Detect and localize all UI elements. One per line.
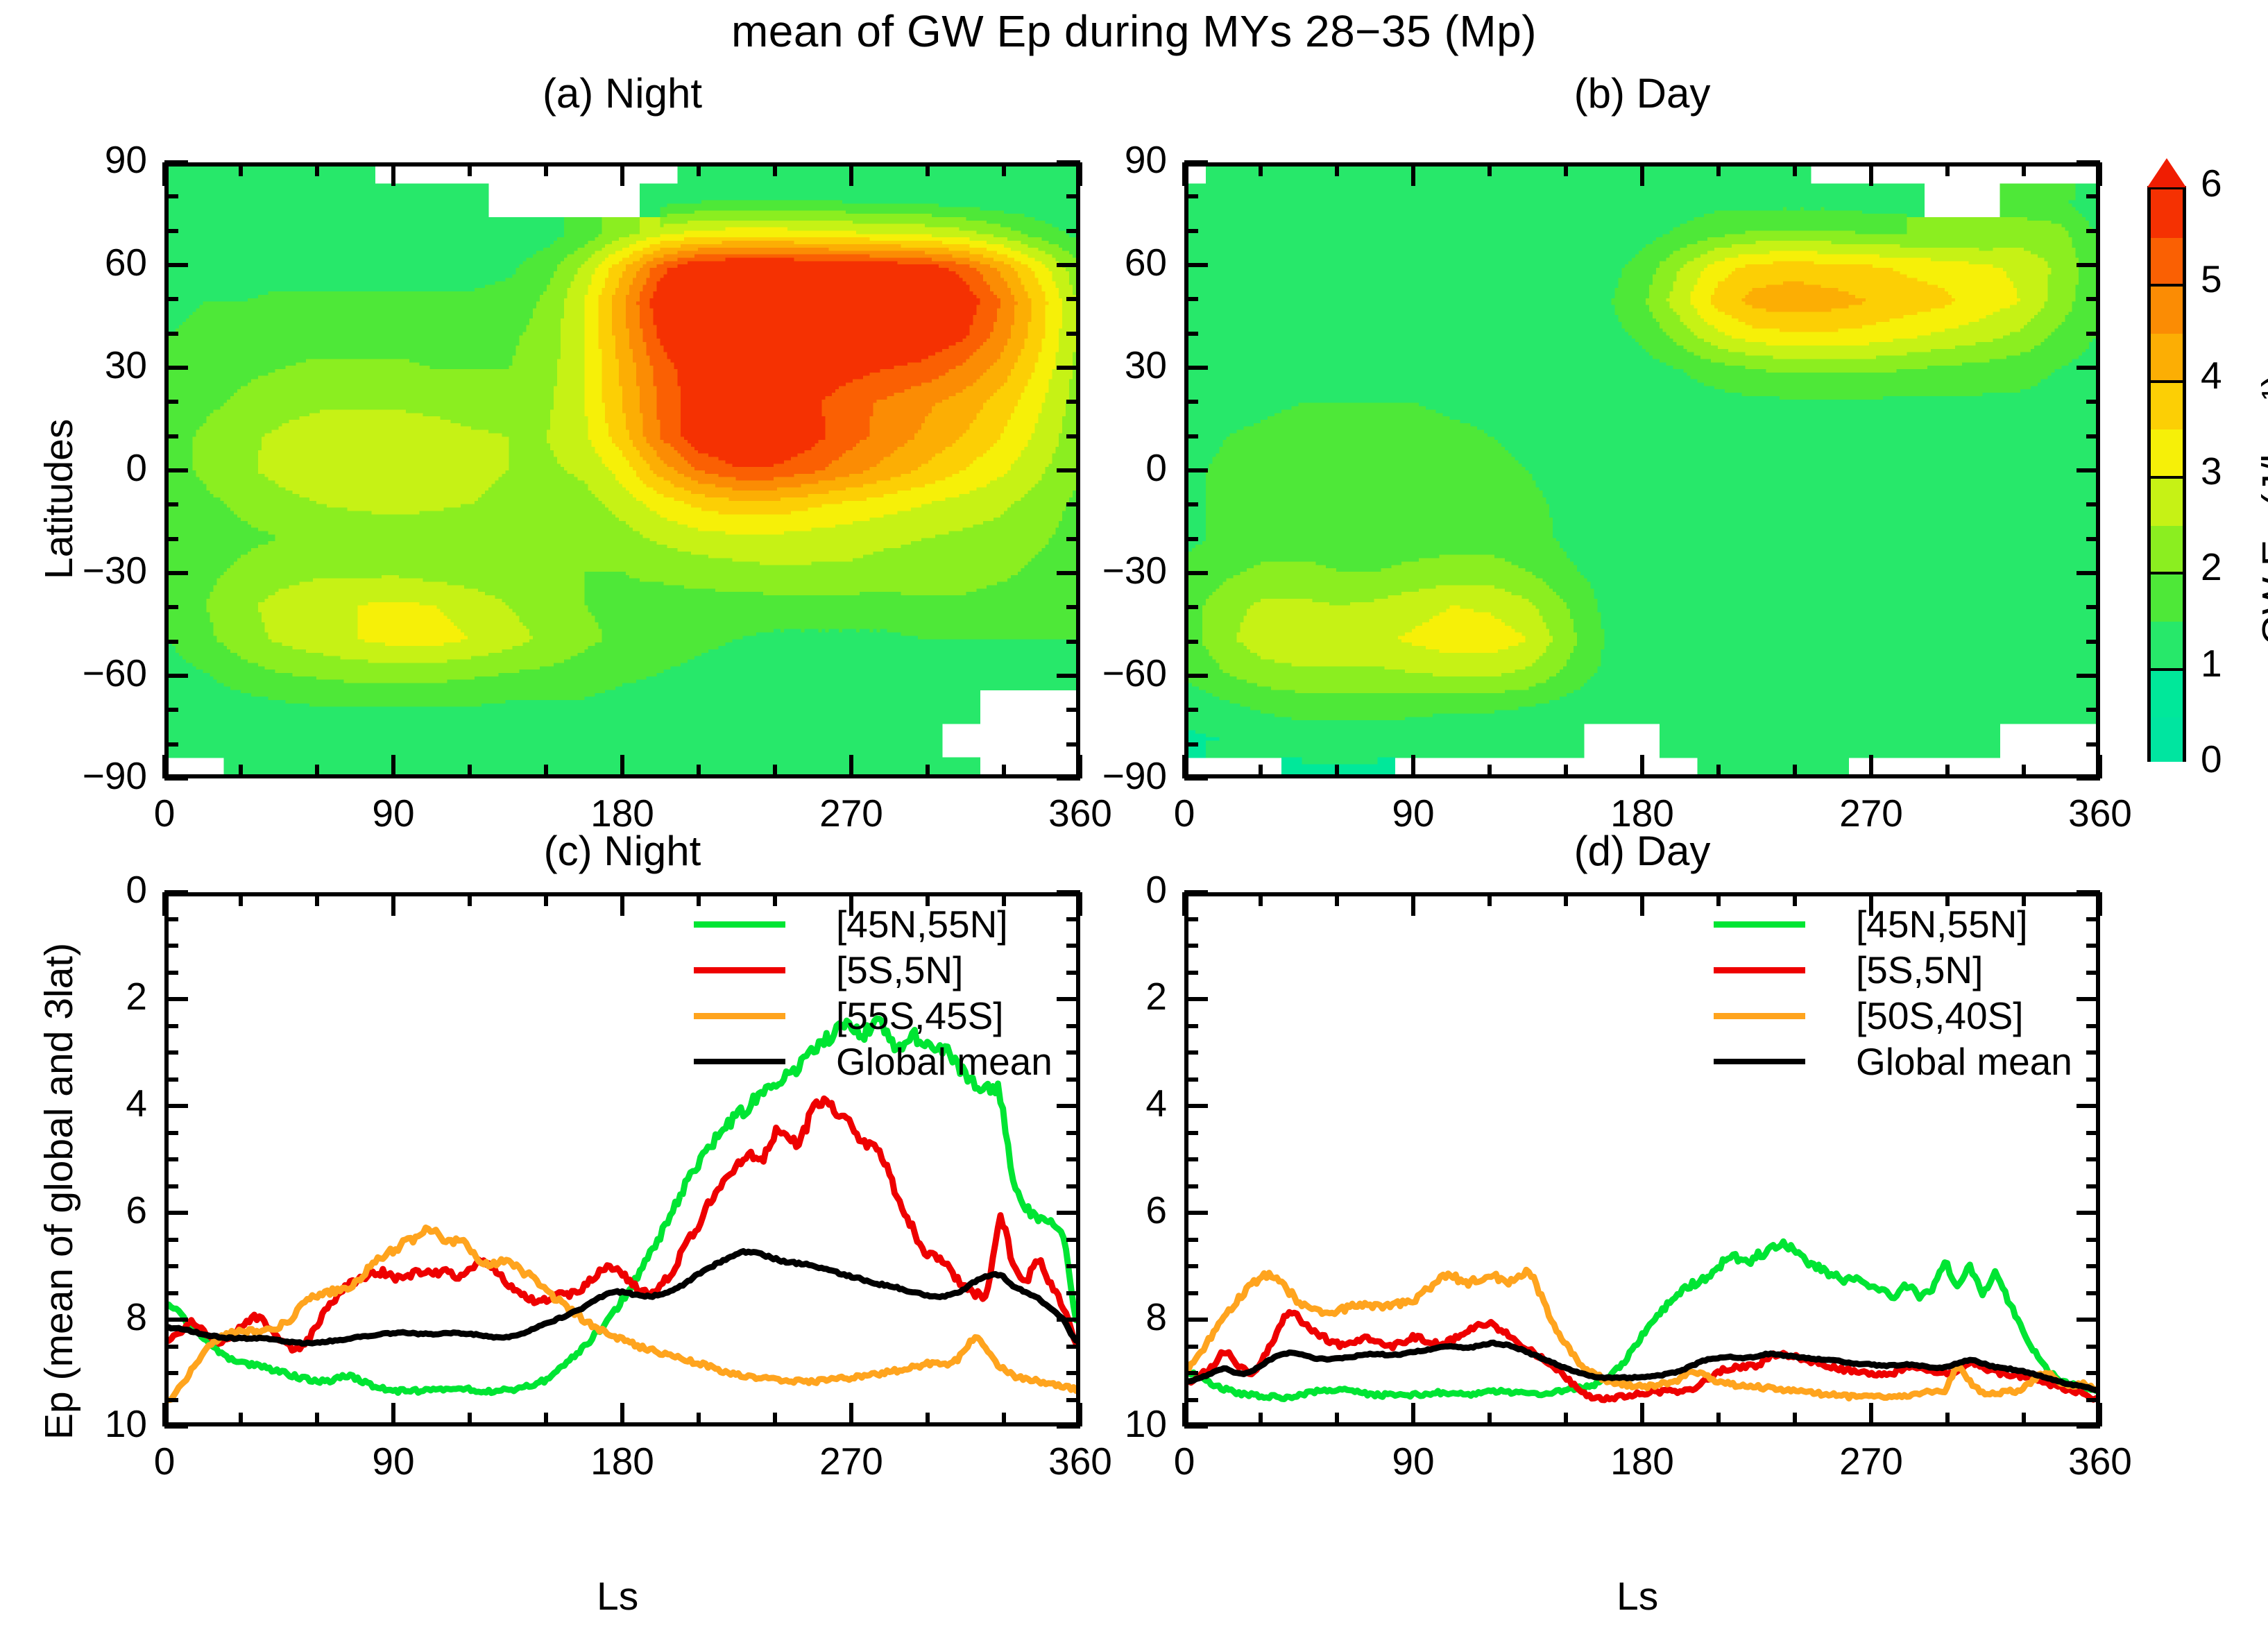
panel-c-title: (c) Night bbox=[164, 827, 1080, 875]
y-tick-label: 0 bbox=[1011, 445, 1167, 490]
y-tick bbox=[1184, 1024, 1198, 1028]
y-tick bbox=[1184, 640, 1198, 644]
y-tick-right bbox=[2077, 1318, 2100, 1322]
legend-label: [55S,45S] bbox=[836, 994, 1004, 1038]
x-tick-top bbox=[468, 892, 472, 906]
x-tick bbox=[1335, 765, 1339, 778]
x-tick bbox=[849, 1403, 853, 1426]
y-tick-right bbox=[1066, 605, 1080, 609]
y-tick-right bbox=[2077, 468, 2100, 472]
panel-c-xlabel: Ls bbox=[597, 1574, 638, 1619]
y-tick-label: 30 bbox=[0, 343, 147, 387]
y-tick bbox=[1184, 1398, 1198, 1402]
y-tick bbox=[1184, 1345, 1198, 1349]
x-tick-top bbox=[1564, 892, 1568, 906]
y-tick bbox=[164, 917, 178, 921]
colorbar-tick-label: 0 bbox=[2201, 737, 2222, 781]
x-tick-top bbox=[391, 892, 395, 916]
panel-d-title: (d) Day bbox=[1184, 827, 2100, 875]
y-tick bbox=[164, 1238, 178, 1242]
x-tick-label: 180 bbox=[1559, 1439, 1725, 1483]
y-tick bbox=[164, 890, 188, 894]
x-tick-top bbox=[1182, 162, 1186, 186]
x-tick bbox=[1182, 1403, 1186, 1426]
y-tick bbox=[1184, 1238, 1198, 1242]
y-tick-label: 0 bbox=[0, 867, 147, 912]
legend-swatch bbox=[694, 1059, 785, 1064]
x-tick-label: 180 bbox=[539, 1439, 706, 1483]
y-tick bbox=[164, 502, 178, 506]
y-tick bbox=[164, 1264, 178, 1268]
y-tick bbox=[1184, 917, 1198, 921]
x-tick bbox=[2098, 1403, 2102, 1426]
y-tick-right bbox=[2086, 1345, 2100, 1349]
x-tick-top bbox=[1640, 162, 1644, 186]
x-tick-top bbox=[2098, 162, 2102, 186]
y-tick bbox=[164, 1211, 188, 1215]
colorbar-band bbox=[2151, 334, 2183, 382]
x-tick-top bbox=[926, 162, 930, 176]
figure-title: mean of GW Ep during MYs 28−35 (Mp) bbox=[0, 6, 2268, 57]
legend-swatch bbox=[694, 921, 785, 928]
x-tick-top bbox=[162, 162, 167, 186]
y-tick-right bbox=[2086, 1398, 2100, 1402]
y-tick bbox=[164, 674, 188, 678]
x-tick bbox=[1716, 765, 1721, 778]
colorbar-tick-label: 2 bbox=[2201, 545, 2222, 589]
y-tick-right bbox=[1066, 1345, 1080, 1349]
y-tick-right bbox=[1066, 194, 1080, 198]
x-tick-top bbox=[1259, 162, 1263, 176]
x-tick-label: 270 bbox=[768, 1439, 935, 1483]
x-tick bbox=[1869, 1403, 1873, 1426]
y-tick bbox=[1184, 1131, 1198, 1135]
x-tick-top bbox=[1411, 892, 1415, 916]
y-tick bbox=[164, 468, 188, 472]
y-tick bbox=[1184, 1211, 1208, 1215]
legend-label: [45N,55N] bbox=[1856, 902, 2028, 946]
x-tick bbox=[1182, 755, 1186, 778]
y-tick bbox=[1184, 776, 1208, 781]
y-tick bbox=[1184, 944, 1198, 948]
legend-swatch bbox=[1714, 921, 1805, 928]
y-tick-right bbox=[1066, 297, 1080, 301]
y-tick-right bbox=[2086, 708, 2100, 712]
y-tick bbox=[164, 708, 178, 712]
colorbar-tick-label: 5 bbox=[2201, 257, 2222, 301]
y-tick-right bbox=[1066, 434, 1080, 438]
y-tick-right bbox=[2086, 434, 2100, 438]
y-tick bbox=[164, 1077, 178, 1082]
x-tick-top bbox=[1182, 892, 1186, 916]
y-tick bbox=[164, 776, 188, 781]
x-tick bbox=[697, 1413, 701, 1426]
x-tick bbox=[1411, 755, 1415, 778]
colorbar-band bbox=[2151, 670, 2183, 718]
legend-swatch bbox=[694, 1013, 785, 1019]
x-tick-label: 90 bbox=[1330, 1439, 1497, 1483]
y-tick bbox=[164, 1184, 178, 1188]
y-tick-right bbox=[2077, 366, 2100, 370]
panel-b-title: (b) Day bbox=[1184, 69, 2100, 117]
x-tick-top bbox=[162, 892, 167, 916]
y-tick bbox=[164, 1318, 188, 1322]
panel-a-plot bbox=[164, 162, 1080, 778]
legend-label: [50S,40S] bbox=[1856, 994, 2024, 1038]
y-tick-right bbox=[2086, 229, 2100, 233]
x-tick bbox=[162, 755, 167, 778]
panel-b-plot bbox=[1184, 162, 2100, 778]
x-tick bbox=[1487, 1413, 1492, 1426]
y-tick-right bbox=[2086, 605, 2100, 609]
y-tick bbox=[1184, 997, 1208, 1001]
y-tick-right bbox=[2086, 944, 2100, 948]
y-tick-right bbox=[2086, 1291, 2100, 1295]
x-tick-label: 360 bbox=[2017, 1439, 2183, 1483]
y-tick-right bbox=[2086, 502, 2100, 506]
y-tick-label: −60 bbox=[1011, 651, 1167, 695]
y-tick-right bbox=[2086, 742, 2100, 747]
colorbar-bottom-arrow bbox=[2147, 762, 2186, 791]
y-tick-label: 8 bbox=[1011, 1295, 1167, 1339]
y-tick-right bbox=[2086, 1050, 2100, 1055]
x-tick-label: 270 bbox=[1788, 1439, 1954, 1483]
y-tick-right bbox=[1066, 1238, 1080, 1242]
y-tick-right bbox=[2086, 194, 2100, 198]
x-tick-top bbox=[1002, 162, 1006, 176]
y-tick bbox=[1184, 297, 1198, 301]
x-tick-top bbox=[1487, 162, 1492, 176]
y-tick-right bbox=[2077, 263, 2100, 267]
x-tick-top bbox=[1411, 162, 1415, 186]
y-tick-right bbox=[1066, 502, 1080, 506]
x-tick-top bbox=[544, 162, 548, 176]
y-tick-right bbox=[1066, 229, 1080, 233]
y-tick bbox=[1184, 502, 1198, 506]
x-tick bbox=[1002, 1413, 1006, 1426]
y-tick-label: 6 bbox=[1011, 1188, 1167, 1232]
y-tick-right bbox=[1066, 1024, 1080, 1028]
y-tick-right bbox=[1066, 400, 1080, 404]
x-tick bbox=[620, 755, 624, 778]
x-tick bbox=[315, 1413, 319, 1426]
x-tick-top bbox=[1487, 892, 1492, 906]
x-tick bbox=[468, 765, 472, 778]
x-tick-top bbox=[697, 892, 701, 906]
y-tick-label: 4 bbox=[1011, 1081, 1167, 1125]
y-tick-right bbox=[2086, 917, 2100, 921]
x-tick-top bbox=[620, 162, 624, 186]
x-tick bbox=[1335, 1413, 1339, 1426]
y-tick-label: −30 bbox=[1011, 548, 1167, 593]
y-tick-right bbox=[2077, 160, 2100, 164]
y-tick-right bbox=[1066, 917, 1080, 921]
x-tick bbox=[1869, 755, 1873, 778]
colorbar-tick-label: 1 bbox=[2201, 641, 2222, 685]
y-tick-right bbox=[2086, 1371, 2100, 1375]
y-tick-right bbox=[2086, 400, 2100, 404]
y-tick-right bbox=[2077, 1211, 2100, 1215]
y-tick bbox=[1184, 1104, 1208, 1108]
y-tick bbox=[164, 1157, 178, 1161]
y-tick bbox=[164, 1398, 178, 1402]
x-tick-top bbox=[468, 162, 472, 176]
y-tick bbox=[164, 742, 178, 747]
x-tick-top bbox=[315, 892, 319, 906]
y-tick-label: 60 bbox=[1011, 240, 1167, 284]
x-tick bbox=[1793, 1413, 1797, 1426]
x-tick bbox=[468, 1413, 472, 1426]
x-tick bbox=[773, 1413, 777, 1426]
y-tick-label: −60 bbox=[0, 651, 147, 695]
y-tick bbox=[1184, 571, 1208, 575]
legend-label: [45N,55N] bbox=[836, 902, 1008, 946]
colorbar-label: GW Ep (J/kg⁻¹) bbox=[2253, 374, 2268, 645]
x-tick bbox=[315, 765, 319, 778]
x-tick bbox=[926, 1413, 930, 1426]
x-tick bbox=[1487, 765, 1492, 778]
colorbar-band bbox=[2151, 285, 2183, 334]
x-tick-top bbox=[1793, 892, 1797, 906]
y-tick bbox=[164, 1131, 178, 1135]
x-tick-label: 90 bbox=[310, 1439, 477, 1483]
colorbar-band bbox=[2151, 429, 2183, 478]
x-tick bbox=[1411, 1403, 1415, 1426]
x-tick bbox=[391, 1403, 395, 1426]
x-tick-top bbox=[315, 162, 319, 176]
y-tick bbox=[164, 1104, 188, 1108]
y-tick bbox=[1184, 400, 1198, 404]
y-tick bbox=[164, 605, 178, 609]
y-tick-label: −90 bbox=[1011, 753, 1167, 798]
x-tick bbox=[926, 765, 930, 778]
colorbar-band bbox=[2151, 525, 2183, 574]
y-tick-right bbox=[2077, 571, 2100, 575]
y-tick bbox=[164, 571, 188, 575]
legend-swatch bbox=[1714, 1013, 1805, 1019]
y-tick bbox=[164, 1291, 178, 1295]
x-tick bbox=[239, 1413, 243, 1426]
colorbar-tick-label: 3 bbox=[2201, 449, 2222, 493]
colorbar-band bbox=[2151, 477, 2183, 526]
y-tick bbox=[1184, 160, 1208, 164]
y-tick bbox=[164, 194, 178, 198]
y-tick bbox=[164, 1024, 178, 1028]
y-tick-right bbox=[2086, 1264, 2100, 1268]
y-tick bbox=[164, 263, 188, 267]
x-tick-top bbox=[391, 162, 395, 186]
x-tick bbox=[1640, 755, 1644, 778]
y-tick-right bbox=[2086, 297, 2100, 301]
colorbar-band bbox=[2151, 717, 2183, 766]
colorbar-top-arrow bbox=[2147, 158, 2186, 187]
y-tick-right bbox=[2086, 1131, 2100, 1135]
x-tick-top bbox=[1335, 162, 1339, 176]
x-tick-top bbox=[544, 892, 548, 906]
y-tick-right bbox=[2077, 1424, 2100, 1429]
figure-root: mean of GW Ep during MYs 28−35 (Mp) (a) … bbox=[0, 0, 2268, 1636]
y-tick-right bbox=[1066, 1371, 1080, 1375]
panel-a-title: (a) Night bbox=[164, 69, 1080, 117]
y-tick-right bbox=[1066, 742, 1080, 747]
y-tick-right bbox=[1066, 1264, 1080, 1268]
y-tick-right bbox=[2086, 537, 2100, 541]
y-tick bbox=[164, 229, 178, 233]
x-tick-top bbox=[2022, 162, 2026, 176]
y-tick bbox=[1184, 1077, 1198, 1082]
x-tick bbox=[620, 1403, 624, 1426]
x-tick bbox=[1945, 1413, 1950, 1426]
colorbar-divider bbox=[2151, 476, 2183, 479]
colorbar-band bbox=[2151, 622, 2183, 670]
colorbar bbox=[2147, 186, 2186, 762]
legend-label: [5S,5N] bbox=[836, 948, 963, 992]
colorbar-bands bbox=[2147, 186, 2186, 762]
y-tick-right bbox=[1066, 1131, 1080, 1135]
y-tick-label: 0 bbox=[1011, 867, 1167, 912]
y-tick bbox=[164, 640, 178, 644]
y-tick bbox=[164, 1424, 188, 1429]
y-tick-right bbox=[2077, 776, 2100, 781]
y-tick-label: 90 bbox=[0, 137, 147, 182]
colorbar-band bbox=[2151, 237, 2183, 286]
y-tick-right bbox=[1066, 537, 1080, 541]
y-tick bbox=[164, 400, 178, 404]
x-tick-top bbox=[1945, 162, 1950, 176]
y-tick bbox=[1184, 890, 1208, 894]
y-tick bbox=[1184, 229, 1198, 233]
y-tick bbox=[1184, 468, 1208, 472]
x-tick-top bbox=[1869, 162, 1873, 186]
x-tick bbox=[1945, 765, 1950, 778]
y-tick-right bbox=[2086, 971, 2100, 975]
colorbar-divider bbox=[2151, 668, 2183, 671]
x-tick-top bbox=[773, 892, 777, 906]
y-tick-right bbox=[1066, 944, 1080, 948]
y-tick bbox=[1184, 366, 1208, 370]
colorbar-divider bbox=[2151, 284, 2183, 287]
x-tick bbox=[2022, 1413, 2026, 1426]
x-tick-top bbox=[620, 892, 624, 916]
y-tick bbox=[1184, 605, 1198, 609]
y-tick bbox=[1184, 1424, 1208, 1429]
y-tick bbox=[1184, 674, 1208, 678]
x-tick bbox=[2022, 765, 2026, 778]
y-tick-right bbox=[1066, 1157, 1080, 1161]
x-tick bbox=[697, 765, 701, 778]
y-tick-right bbox=[2086, 1024, 2100, 1028]
y-tick bbox=[164, 297, 178, 301]
y-tick bbox=[164, 944, 178, 948]
x-tick-top bbox=[1259, 892, 1263, 906]
y-tick-label: 90 bbox=[1011, 137, 1167, 182]
y-tick bbox=[164, 332, 178, 336]
y-tick-right bbox=[1066, 1050, 1080, 1055]
panel-a-ylabel: Latitudes bbox=[36, 419, 82, 579]
y-tick bbox=[164, 971, 178, 975]
x-tick bbox=[544, 765, 548, 778]
x-tick-top bbox=[773, 162, 777, 176]
x-tick-top bbox=[239, 892, 243, 906]
y-tick bbox=[1184, 1050, 1198, 1055]
y-tick-right bbox=[2086, 1157, 2100, 1161]
x-tick bbox=[544, 1413, 548, 1426]
y-tick bbox=[1184, 194, 1198, 198]
y-tick-right bbox=[2086, 332, 2100, 336]
y-tick-right bbox=[2086, 1238, 2100, 1242]
panel-c-ylabel: Ep (mean of global and 3lat) bbox=[36, 943, 82, 1440]
y-tick-right bbox=[1066, 332, 1080, 336]
colorbar-band bbox=[2151, 573, 2183, 622]
x-tick bbox=[162, 1403, 167, 1426]
y-tick bbox=[1184, 1371, 1198, 1375]
y-tick bbox=[164, 997, 188, 1001]
y-tick bbox=[1184, 1291, 1198, 1295]
legend-label: Global mean bbox=[836, 1039, 1052, 1084]
x-tick-top bbox=[697, 162, 701, 176]
y-tick bbox=[1184, 1184, 1198, 1188]
y-tick bbox=[1184, 434, 1198, 438]
x-tick bbox=[849, 755, 853, 778]
colorbar-divider bbox=[2151, 380, 2183, 383]
y-tick-right bbox=[2077, 997, 2100, 1001]
colorbar-divider bbox=[2151, 572, 2183, 574]
y-tick-right bbox=[2077, 674, 2100, 678]
y-tick-right bbox=[1066, 708, 1080, 712]
y-tick bbox=[164, 434, 178, 438]
x-tick bbox=[391, 755, 395, 778]
legend-label: Global mean bbox=[1856, 1039, 2072, 1084]
x-tick-top bbox=[239, 162, 243, 176]
x-tick-top bbox=[849, 162, 853, 186]
x-tick-top bbox=[2098, 892, 2102, 916]
y-tick-label: −90 bbox=[0, 753, 147, 798]
y-tick bbox=[1184, 1318, 1208, 1322]
y-tick-label: 2 bbox=[1011, 974, 1167, 1019]
y-tick bbox=[1184, 332, 1198, 336]
x-tick bbox=[1640, 1403, 1644, 1426]
y-tick-label: 30 bbox=[1011, 343, 1167, 387]
legend-swatch bbox=[694, 967, 785, 973]
colorbar-tick-label: 4 bbox=[2201, 353, 2222, 398]
x-tick bbox=[1002, 765, 1006, 778]
y-tick bbox=[164, 160, 188, 164]
y-tick-right bbox=[2077, 890, 2100, 894]
panel-d-xlabel: Ls bbox=[1617, 1574, 1658, 1619]
x-tick-top bbox=[1716, 162, 1721, 176]
y-tick bbox=[1184, 971, 1198, 975]
x-tick-top bbox=[1564, 162, 1568, 176]
y-tick bbox=[1184, 263, 1208, 267]
x-tick bbox=[239, 765, 243, 778]
y-tick bbox=[164, 1050, 178, 1055]
x-tick bbox=[1564, 765, 1568, 778]
y-tick bbox=[164, 1371, 178, 1375]
x-tick bbox=[1259, 765, 1263, 778]
legend-swatch bbox=[1714, 967, 1805, 973]
colorbar-band bbox=[2151, 189, 2183, 238]
x-tick-top bbox=[1640, 892, 1644, 916]
y-tick-right bbox=[1066, 640, 1080, 644]
y-tick bbox=[1184, 537, 1198, 541]
x-tick bbox=[1793, 765, 1797, 778]
y-tick bbox=[1184, 1157, 1198, 1161]
legend-swatch bbox=[1714, 1059, 1805, 1064]
y-tick bbox=[164, 366, 188, 370]
x-tick-top bbox=[1793, 162, 1797, 176]
x-tick bbox=[1716, 1413, 1721, 1426]
y-tick bbox=[164, 1345, 178, 1349]
